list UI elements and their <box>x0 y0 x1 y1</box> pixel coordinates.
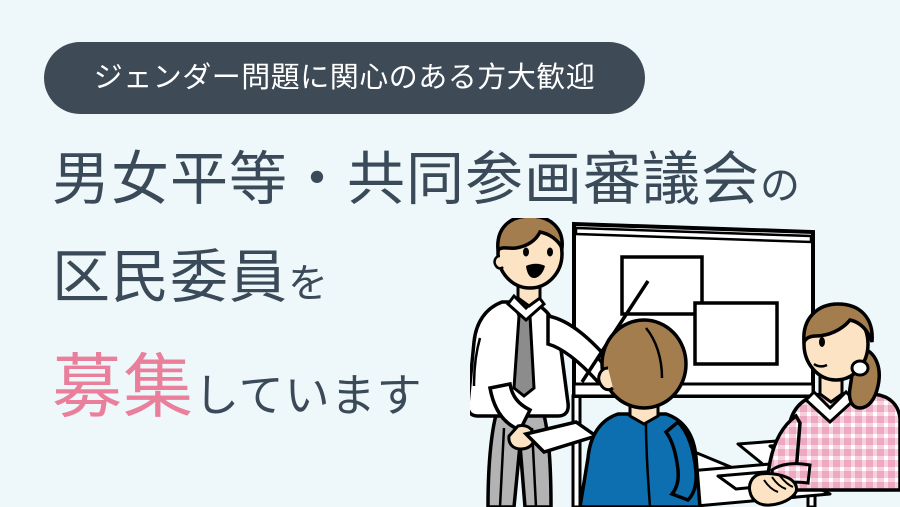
attendee-blue-head <box>602 320 686 408</box>
headline-line-1: 男女平等・共同参画審議会の <box>52 151 801 209</box>
banner-root: ジェンダー問題に関心のある方大歓迎 男女平等・共同参画審議会の 区民委員を 募集… <box>0 0 900 507</box>
headline-line-2-particle: を <box>288 262 329 306</box>
headline-line-1-main: 男女平等・共同参画審議会 <box>52 147 760 212</box>
presenter-eye-right <box>547 248 553 257</box>
whiteboard-diagram-box-2 <box>695 303 777 364</box>
badge-pill: ジェンダー問題に関心のある方大歓迎 <box>44 42 645 114</box>
meeting-illustration <box>470 218 900 507</box>
headline-line-3-tail: しています <box>194 370 423 421</box>
headline-line-2-main: 区民委員 <box>52 245 288 310</box>
headline-line-2: 区民委員を <box>52 249 329 307</box>
presenter-eye-left <box>523 248 529 257</box>
headline-emphasis-boshu: 募集 <box>52 348 194 426</box>
attendee-woman-hair-tie <box>852 361 868 375</box>
headline-line-1-particle: の <box>760 164 801 208</box>
badge-label: ジェンダー問題に関心のある方大歓迎 <box>94 64 596 93</box>
attendee-woman-eye <box>819 337 825 347</box>
meeting-illustration-svg <box>470 218 900 507</box>
headline-line-3: 募集しています <box>52 352 423 422</box>
